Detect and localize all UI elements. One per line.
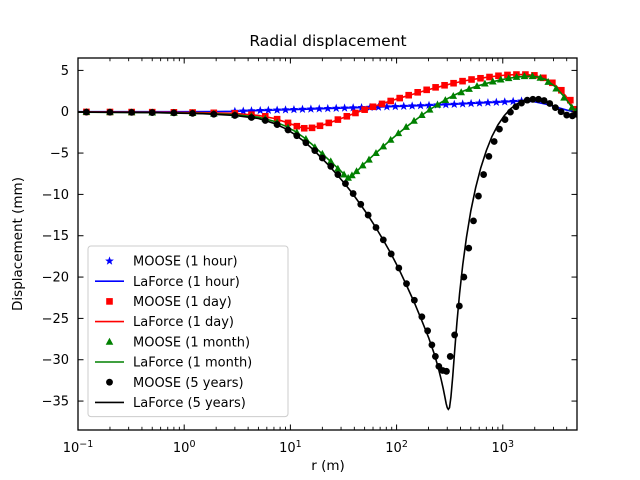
data-marker-square	[106, 298, 113, 305]
y-tick-label: 5	[61, 64, 69, 79]
data-marker-circle	[470, 217, 477, 224]
legend[interactable]: MOOSE (1 hour)LaForce (1 hour)MOOSE (1 d…	[88, 246, 288, 417]
data-marker-circle	[475, 193, 482, 200]
y-tick-label: −5	[50, 147, 69, 162]
data-marker-circle	[465, 245, 472, 252]
data-marker-circle	[447, 353, 454, 360]
data-marker-circle	[106, 379, 113, 386]
y-tick-label: 0	[61, 105, 69, 120]
data-marker-circle	[491, 138, 498, 145]
legend-label: MOOSE (1 day)	[133, 295, 232, 310]
legend-label: LaForce (5 years)	[133, 396, 246, 411]
y-tick-label: −10	[42, 188, 69, 203]
data-marker-circle	[451, 332, 458, 339]
x-axis-label: r (m)	[311, 458, 345, 474]
chart-title: Radial displacement	[249, 32, 406, 50]
y-tick-label: −30	[42, 353, 69, 368]
y-tick-label: −15	[42, 229, 69, 244]
legend-label: MOOSE (1 month)	[133, 335, 250, 350]
legend-label: LaForce (1 hour)	[133, 275, 240, 290]
legend-label: LaForce (1 month)	[133, 356, 252, 371]
data-marker-circle	[443, 368, 450, 375]
radial-displacement-chart: Radial displacement 10−1100101102103 50−…	[0, 0, 640, 480]
legend-label: MOOSE (1 hour)	[133, 255, 238, 270]
data-marker-circle	[480, 171, 487, 178]
y-tick-label: −20	[42, 271, 69, 286]
legend-label: LaForce (1 day)	[133, 315, 234, 330]
data-marker-circle	[485, 153, 492, 160]
legend-label: MOOSE (5 years)	[133, 376, 244, 391]
y-tick-label: −25	[42, 312, 69, 327]
y-tick-label: −35	[42, 395, 69, 410]
y-axis-label: Displacement (mm)	[10, 177, 26, 311]
figure-canvas: Radial displacement 10−1100101102103 50−…	[0, 0, 640, 480]
legend-box	[88, 246, 288, 417]
